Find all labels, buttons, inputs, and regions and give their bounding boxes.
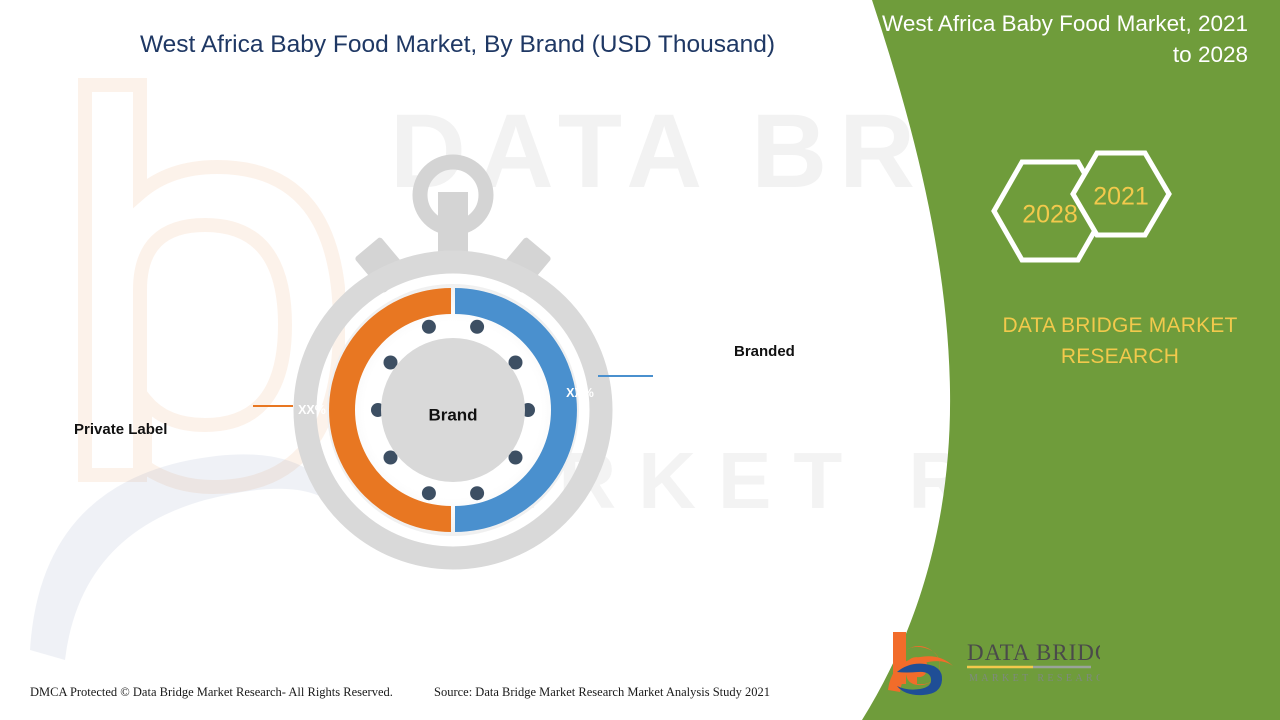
data-bridge-logo: DATA BRIDGE MARKET RESEARCH — [885, 628, 1100, 700]
hexagon-start-year: 2021 — [1073, 153, 1169, 235]
footer-source: Source: Data Bridge Market Research Mark… — [434, 685, 770, 700]
panel-brand-line1: DATA BRIDGE MARKET — [960, 310, 1280, 341]
footer-copyright: DMCA Protected © Data Bridge Market Rese… — [30, 685, 393, 700]
panel-title: West Africa Baby Food Market, 2021 to 20… — [858, 8, 1248, 70]
panel-brand-line2: RESEARCH — [960, 341, 1280, 372]
panel-brand-name: DATA BRIDGE MARKET RESEARCH — [960, 310, 1280, 372]
hexagon-end-year-label: 2028 — [1022, 201, 1078, 229]
year-hexagons: 2028 2021 — [975, 150, 1205, 280]
logo-primary-text: DATA BRIDGE — [967, 640, 1100, 665]
page-title: West Africa Baby Food Market, By Brand (… — [140, 31, 775, 59]
pie-label-private-label: Private Label — [74, 421, 167, 438]
hexagon-start-year-label: 2021 — [1093, 183, 1149, 211]
logo-secondary-text: MARKET RESEARCH — [969, 673, 1100, 684]
pie-label-branded: Branded — [734, 343, 795, 360]
